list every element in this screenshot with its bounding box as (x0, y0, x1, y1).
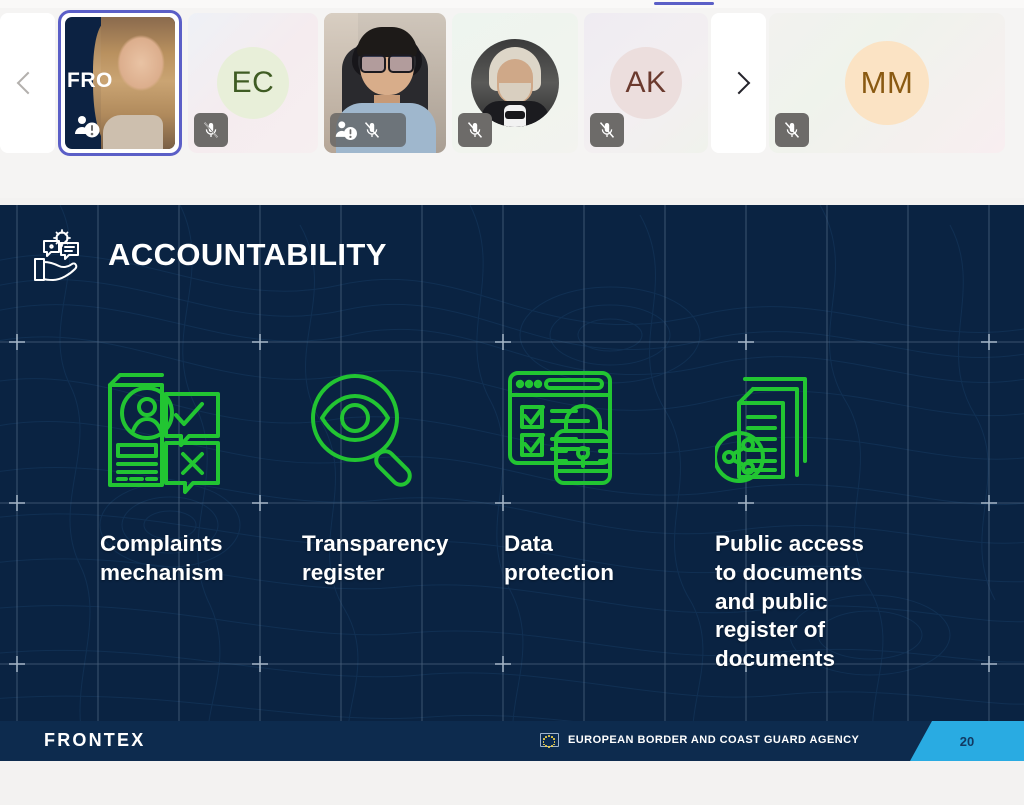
participant-tile-photo[interactable] (452, 13, 578, 153)
frontex-logo: FRONTEX (44, 730, 145, 751)
status-badges (330, 113, 406, 147)
active-tab-indicator[interactable] (654, 2, 714, 5)
pillar-transparency-register: Transparency register (302, 360, 502, 674)
chevron-right-icon (727, 72, 750, 95)
eu-flag-icon (540, 733, 559, 747)
accountability-pillars: Complaints mechanism (0, 360, 1024, 674)
pillar-data-protection: Data protection (504, 360, 709, 674)
participant-filmstrip: FRO EC (0, 8, 1024, 198)
complaint-document-icon (100, 365, 230, 495)
slide-header: ACCOUNTABILITY (28, 227, 387, 283)
page-title: ACCOUNTABILITY (108, 237, 387, 273)
mic-muted-icon (194, 113, 228, 147)
participant-tile-video-2[interactable] (324, 13, 446, 153)
person-alert-icon (71, 109, 105, 143)
slide-number: 20 (910, 721, 1024, 761)
pillar-label: Data protection (504, 530, 709, 588)
person-alert-icon (334, 118, 360, 142)
slide-footer: FRONTEX EUROPEAN BORDER AND COAST GUARD … (0, 721, 1024, 761)
mic-muted-icon (590, 113, 624, 147)
documents-share-icon (715, 365, 845, 495)
participant-tile-active-speaker[interactable]: FRO (58, 10, 182, 156)
pillar-label: Transparency register (302, 530, 502, 588)
avatar: EC (217, 47, 289, 119)
hand-feedback-icon (28, 227, 90, 283)
filmstrip-previous-button[interactable] (0, 13, 55, 153)
bottom-area (0, 761, 1024, 805)
agency-name: EUROPEAN BORDER AND COAST GUARD AGENCY (568, 734, 859, 746)
meeting-window: FRO EC (0, 0, 1024, 805)
pillar-label: Complaints mechanism (100, 530, 300, 588)
browser-lock-icon (504, 365, 632, 495)
mic-muted-icon (458, 113, 492, 147)
participant-tile-mm[interactable]: MM (769, 13, 1005, 153)
avatar: MM (845, 41, 929, 125)
frontex-logo-text: FRONTEX (44, 730, 145, 751)
top-tab-bar (0, 0, 1024, 8)
pillar-complaints-mechanism: Complaints mechanism (100, 360, 300, 674)
chevron-left-icon (16, 72, 39, 95)
pillar-label: Public access to documents and public re… (715, 530, 930, 674)
pillar-public-access: Public access to documents and public re… (715, 360, 930, 674)
participant-tile-ec[interactable]: EC (188, 13, 318, 153)
participant-tile-ak[interactable]: AK (584, 13, 708, 153)
magnifier-eye-icon (302, 365, 427, 495)
mic-muted-icon (775, 113, 809, 147)
avatar: AK (610, 47, 682, 119)
shared-slide[interactable]: ACCOUNTABILITY (0, 205, 1024, 761)
mic-muted-icon (362, 120, 382, 140)
tile-background-text: FRO (67, 69, 113, 93)
filmstrip-next-button[interactable] (711, 13, 766, 153)
agency-caption: EUROPEAN BORDER AND COAST GUARD AGENCY (540, 733, 859, 747)
